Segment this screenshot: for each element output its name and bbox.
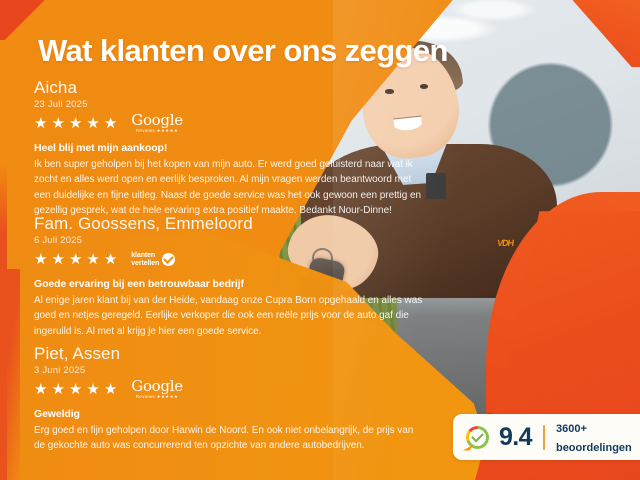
review-meta: ★ ★ ★ ★ ★ Google Reviews ★★★★★ <box>34 114 426 134</box>
rating-divider <box>543 425 545 450</box>
review-card: Aicha 23 Juli 2025 ★ ★ ★ ★ ★ Google Revi… <box>34 78 426 219</box>
klantenvertellen-logo: klanten vertellen <box>131 252 175 268</box>
star-icon: ★ <box>34 116 47 131</box>
star-icon: ★ <box>86 116 99 131</box>
star-icon: ★ <box>51 252 64 267</box>
google-reviews-subtext: Reviews ★★★★★ <box>136 129 178 134</box>
google-reviews-logo: Google Reviews ★★★★★ <box>131 113 183 134</box>
star-rating: ★ ★ ★ ★ ★ <box>34 116 117 131</box>
star-icon: ★ <box>51 382 64 397</box>
star-rating: ★ ★ ★ ★ ★ <box>34 382 117 397</box>
review-date: 3 Juni 2025 <box>34 365 426 376</box>
reviewer-name: Piet, Assen <box>34 344 426 364</box>
review-date: 23 Juli 2025 <box>34 99 426 110</box>
review-date: 6 Juli 2025 <box>34 235 426 246</box>
review-meta: ★ ★ ★ ★ ★ Google Reviews ★★★★★ <box>34 380 426 400</box>
review-body: Ik ben super geholpen bij het kopen van … <box>34 157 426 219</box>
google-reviews-logo: Google Reviews ★★★★★ <box>131 379 183 400</box>
star-rating: ★ ★ ★ ★ ★ <box>34 252 117 267</box>
star-icon: ★ <box>51 116 64 131</box>
review-headline: Heel blij met mijn aankoop! <box>34 142 426 154</box>
google-wordmark: Google <box>131 113 183 128</box>
review-body: Erg goed en fijn geholpen door Harwin de… <box>34 423 426 454</box>
promo-banner: VDH Wat klanten over ons zeggen Aicha 23… <box>0 0 640 480</box>
review-body: Al enige jaren klant bij van der Heide, … <box>34 293 426 340</box>
star-icon: ★ <box>86 252 99 267</box>
star-icon: ★ <box>104 116 117 131</box>
google-reviews-subtext: Reviews ★★★★★ <box>136 395 178 400</box>
star-icon: ★ <box>104 252 117 267</box>
kv-line-1: klanten <box>131 252 155 259</box>
star-icon: ★ <box>69 382 82 397</box>
page-title: Wat klanten over ons zeggen <box>38 33 448 69</box>
klantenvertellen-seal-icon <box>465 425 490 450</box>
rating-label: beoordelingen <box>556 442 632 454</box>
rating-score: 9.4 <box>499 425 532 450</box>
rating-count: 3600+ <box>556 423 587 435</box>
star-icon: ★ <box>69 252 82 267</box>
checkmark-icon <box>471 429 484 442</box>
review-card: Piet, Assen 3 Juni 2025 ★ ★ ★ ★ ★ Google… <box>34 344 426 454</box>
rating-badge: 9.4 3600+ beoordelingen <box>453 414 640 460</box>
review-meta: ★ ★ ★ ★ ★ klanten vertellen <box>34 250 426 270</box>
kv-line-2: vertellen <box>131 260 159 267</box>
star-icon: ★ <box>104 382 117 397</box>
star-icon: ★ <box>34 382 47 397</box>
klantenvertellen-wordmark: klanten vertellen <box>131 252 159 268</box>
star-icon: ★ <box>86 382 99 397</box>
star-icon: ★ <box>34 252 47 267</box>
rating-text: 3600+ beoordelingen <box>556 418 632 456</box>
seal-inner <box>469 429 486 446</box>
reviewer-name: Fam. Goossens, Emmeloord <box>34 214 426 234</box>
content-layer: Wat klanten over ons zeggen Aicha 23 Jul… <box>0 0 640 480</box>
google-wordmark: Google <box>131 379 183 394</box>
check-badge-icon <box>162 253 175 266</box>
review-headline: Geweldig <box>34 408 426 420</box>
star-icon: ★ <box>69 116 82 131</box>
reviewer-name: Aicha <box>34 78 426 98</box>
review-headline: Goede ervaring bij een betrouwbaar bedri… <box>34 278 426 290</box>
review-card: Fam. Goossens, Emmeloord 6 Juli 2025 ★ ★… <box>34 214 426 339</box>
